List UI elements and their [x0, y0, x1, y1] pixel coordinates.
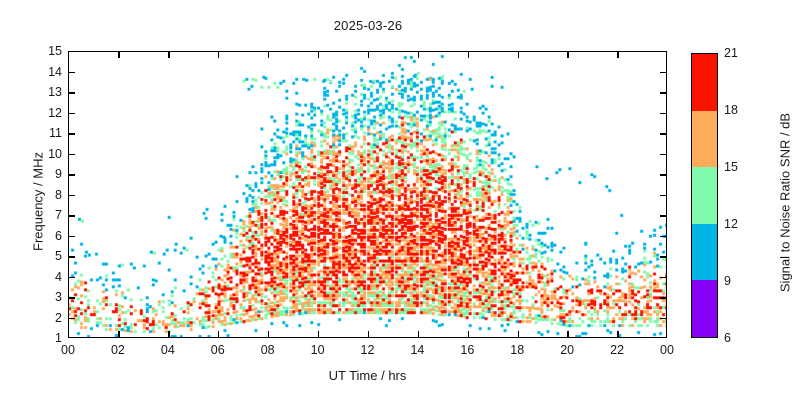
y-tick-label: 15 [40, 44, 62, 58]
x-tick-mark [617, 52, 618, 58]
x-tick-label: 16 [460, 343, 474, 357]
page-title: 2025-03-26 [0, 18, 736, 33]
x-tick-mark [567, 52, 568, 58]
y-tick-mark [69, 256, 75, 257]
colorbar-tick-label: 12 [724, 217, 738, 231]
y-tick-mark [660, 195, 666, 196]
y-tick-mark [660, 72, 666, 73]
x-tick-mark [318, 52, 319, 58]
y-tick-mark [660, 215, 666, 216]
x-tick-mark [168, 331, 169, 337]
x-tick-mark [268, 331, 269, 337]
y-axis-label: Frequency / MHz [31, 102, 46, 302]
colorbar-band [692, 224, 717, 281]
y-tick-label: 13 [40, 85, 62, 99]
x-tick-mark [168, 52, 169, 58]
ionogram-snr-figure: 2025-03-26 00020406081012141618202200123… [0, 0, 800, 400]
x-tick-label: 02 [111, 343, 125, 357]
x-tick-label: 04 [161, 343, 175, 357]
colorbar-band [692, 54, 717, 111]
x-tick-label: 06 [211, 343, 225, 357]
y-tick-label: 2 [40, 311, 62, 325]
x-tick-mark [468, 331, 469, 337]
x-tick-label: 08 [261, 343, 275, 357]
y-tick-mark [69, 174, 75, 175]
x-tick-mark [617, 331, 618, 337]
y-tick-mark [660, 236, 666, 237]
x-tick-mark [218, 52, 219, 58]
y-tick-mark [660, 297, 666, 298]
y-tick-mark [69, 72, 75, 73]
y-tick-label: 14 [40, 65, 62, 79]
x-tick-mark [418, 331, 419, 337]
y-tick-mark [69, 318, 75, 319]
y-tick-mark [69, 195, 75, 196]
colorbar-tick-label: 9 [724, 274, 731, 288]
y-tick-mark [69, 113, 75, 114]
y-tick-mark [660, 113, 666, 114]
x-tick-mark [468, 52, 469, 58]
x-tick-mark [268, 52, 269, 58]
y-tick-mark [69, 92, 75, 93]
y-tick-mark [69, 236, 75, 237]
x-tick-label: 14 [410, 343, 424, 357]
y-tick-mark [660, 154, 666, 155]
x-tick-mark [118, 52, 119, 58]
x-tick-mark [318, 331, 319, 337]
y-tick-mark [69, 277, 75, 278]
x-tick-mark [518, 52, 519, 58]
x-tick-label: 10 [311, 343, 325, 357]
colorbar-tick-label: 15 [724, 160, 738, 174]
x-tick-mark [118, 331, 119, 337]
colorbar-label: Signal to Noise Ratio SNR / dB [778, 83, 793, 323]
x-tick-mark [567, 331, 568, 337]
x-tick-mark [218, 331, 219, 337]
plot-area [68, 51, 667, 338]
y-tick-mark [69, 154, 75, 155]
x-tick-mark [368, 331, 369, 337]
y-tick-mark [69, 133, 75, 134]
colorbar-tick-label: 18 [724, 103, 738, 117]
x-tick-label: 20 [560, 343, 574, 357]
y-tick-mark [660, 277, 666, 278]
colorbar-band [692, 280, 717, 337]
colorbar [691, 53, 718, 338]
x-axis-label: UT Time / hrs [68, 368, 667, 383]
y-tick-mark [660, 133, 666, 134]
x-tick-label: 18 [510, 343, 524, 357]
colorbar-tick-label: 6 [724, 331, 731, 345]
y-tick-mark [660, 256, 666, 257]
colorbar-band [692, 111, 717, 168]
y-tick-mark [660, 92, 666, 93]
y-tick-label: 1 [40, 331, 62, 345]
y-tick-mark [69, 215, 75, 216]
y-tick-mark [69, 297, 75, 298]
colorbar-tick-label: 21 [724, 46, 738, 60]
x-tick-mark [368, 52, 369, 58]
x-tick-label: 00 [660, 343, 674, 357]
scatter-data-layer [69, 52, 666, 337]
colorbar-band [692, 167, 717, 224]
y-tick-mark [660, 318, 666, 319]
x-tick-mark [518, 331, 519, 337]
x-tick-label: 00 [61, 343, 75, 357]
x-tick-mark [418, 52, 419, 58]
y-tick-mark [660, 174, 666, 175]
x-tick-label: 12 [361, 343, 375, 357]
x-tick-label: 22 [610, 343, 624, 357]
